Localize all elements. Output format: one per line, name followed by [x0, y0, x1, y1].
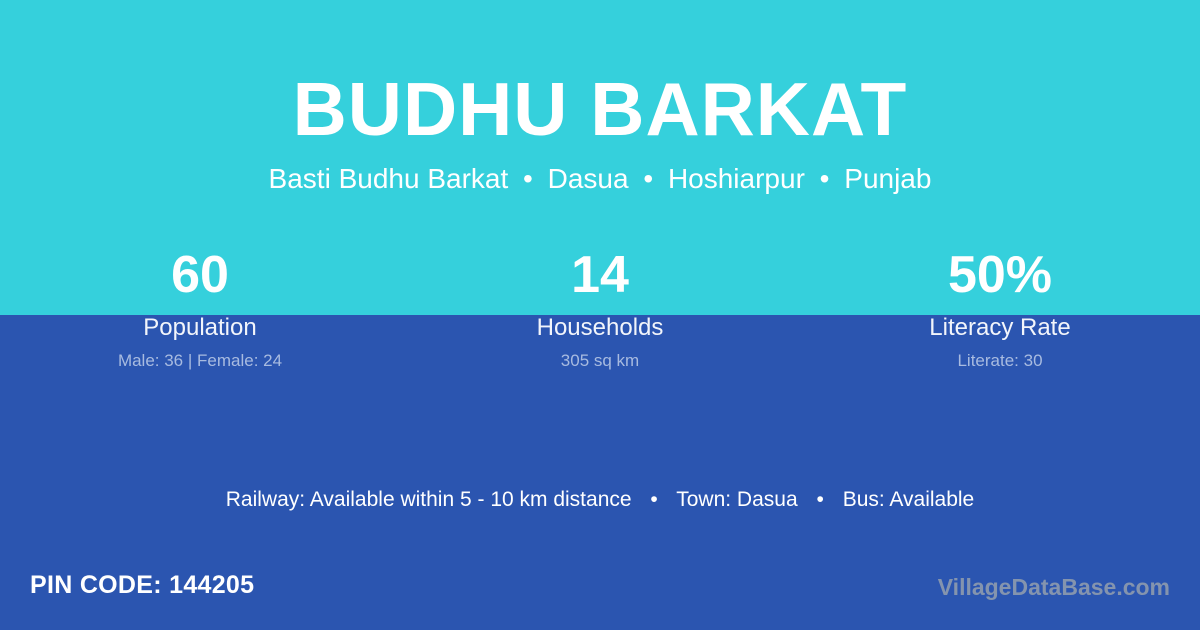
- breadcrumb-item-village: Basti Budhu Barkat: [269, 163, 509, 194]
- infra-separator: •: [803, 488, 836, 511]
- stat-card-population: 60 Population Male: 36 | Female: 24: [0, 246, 400, 370]
- stat-value-households: 14: [400, 246, 800, 304]
- site-brand-logo: VillageDataBase.com: [938, 573, 1170, 601]
- breadcrumb-item-block: Dasua: [548, 163, 629, 194]
- breadcrumb-separator: •: [516, 163, 540, 194]
- infra-item-town: Town: Dasua: [676, 488, 797, 511]
- stat-sub-literacy-rate: Literate: 30: [800, 351, 1200, 370]
- stat-sub-population: Male: 36 | Female: 24: [0, 351, 400, 370]
- breadcrumb-separator: •: [636, 163, 660, 194]
- stat-value-literacy-rate: 50%: [800, 246, 1200, 304]
- infra-item-railway: Railway: Available within 5 - 10 km dist…: [226, 488, 632, 511]
- breadcrumb-item-state: Punjab: [844, 163, 931, 194]
- stat-card-households: 14 Households 305 sq km: [400, 246, 800, 370]
- header: BUDHU BARKAT Basti Budhu Barkat • Dasua …: [0, 0, 1200, 193]
- stat-value-population: 60: [0, 246, 400, 304]
- stat-label-households: Households: [400, 315, 800, 341]
- pin-code-label: PIN CODE: 144205: [30, 570, 254, 600]
- stat-sub-households: 305 sq km: [400, 351, 800, 370]
- breadcrumb-item-district: Hoshiarpur: [668, 163, 805, 194]
- infra-item-bus: Bus: Available: [843, 488, 975, 511]
- stats-row: 60 Population Male: 36 | Female: 24 14 H…: [0, 246, 1200, 370]
- page-title: BUDHU BARKAT: [0, 72, 1200, 147]
- stat-card-literacy-rate: 50% Literacy Rate Literate: 30: [800, 246, 1200, 370]
- infrastructure-line: Railway: Available within 5 - 10 km dist…: [0, 487, 1200, 512]
- footer: PIN CODE: 144205 VillageDataBase.com: [0, 565, 1200, 630]
- stat-label-literacy-rate: Literacy Rate: [800, 315, 1200, 341]
- breadcrumb-separator: •: [813, 163, 837, 194]
- breadcrumb: Basti Budhu Barkat • Dasua • Hoshiarpur …: [0, 165, 1200, 193]
- stat-label-population: Population: [0, 315, 400, 341]
- infra-separator: •: [637, 488, 670, 511]
